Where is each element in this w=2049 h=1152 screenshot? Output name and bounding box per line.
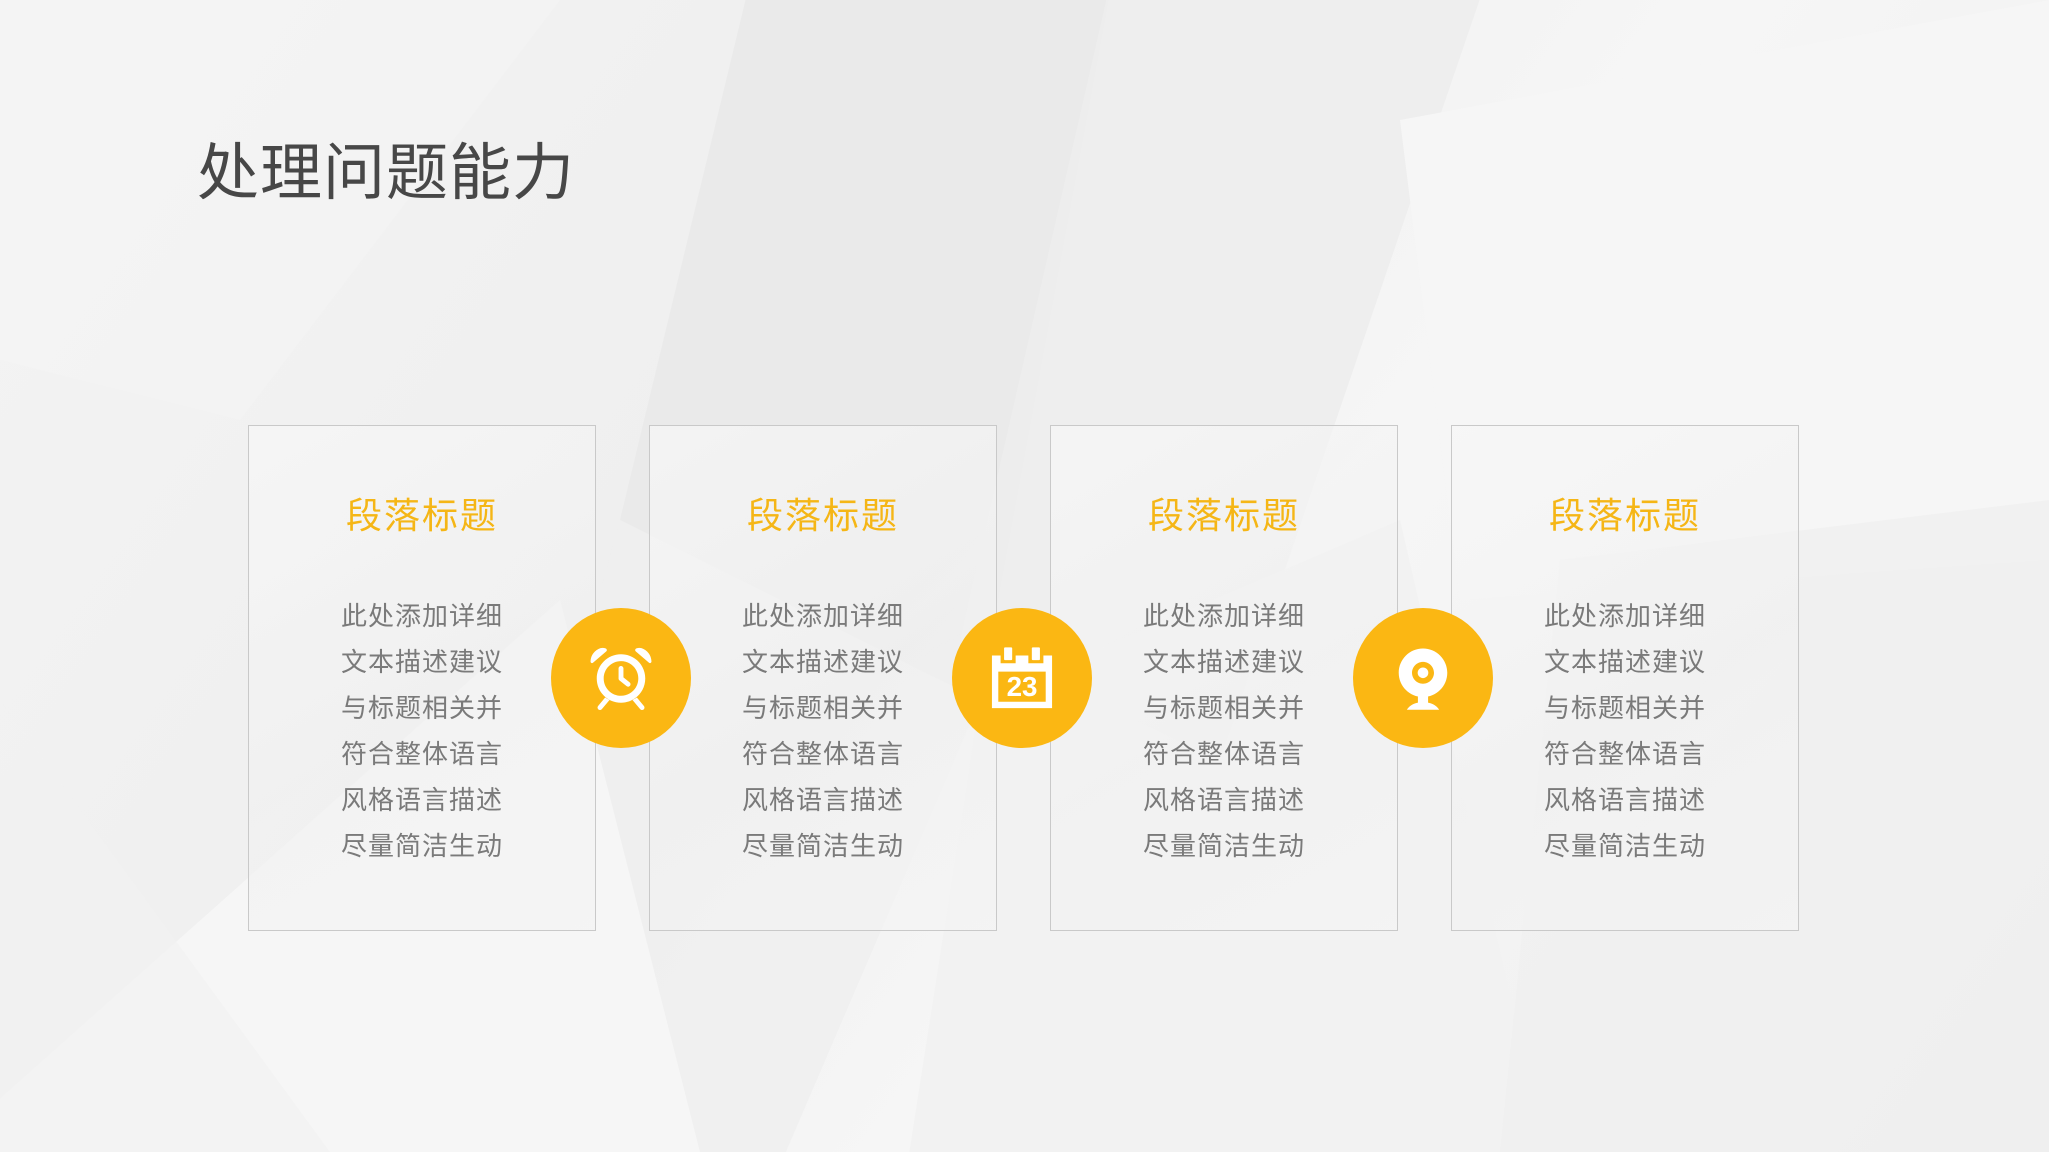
card-4-heading: 段落标题 — [1452, 494, 1798, 537]
card-2-heading: 段落标题 — [650, 494, 996, 537]
card-1-body-line-1: 此处添加详细 — [249, 593, 595, 639]
card-2-body-line-4: 符合整体语言 — [650, 731, 996, 777]
card-1-heading: 段落标题 — [249, 494, 595, 537]
card-4-body-line-2: 文本描述建议 — [1452, 639, 1798, 685]
card-2-body-line-1: 此处添加详细 — [650, 593, 996, 639]
card-1-body-line-4: 符合整体语言 — [249, 731, 595, 777]
card-4-body-line-6: 尽量简洁生动 — [1452, 823, 1798, 869]
card-4-content: 段落标题 此处添加详细 文本描述建议 与标题相关并 符合整体语言 风格语言描述 … — [1452, 426, 1798, 869]
card-3-content: 段落标题 此处添加详细 文本描述建议 与标题相关并 符合整体语言 风格语言描述 … — [1051, 426, 1397, 869]
card-1-body-line-2: 文本描述建议 — [249, 639, 595, 685]
badge-webcam[interactable] — [1353, 608, 1493, 748]
card-2[interactable]: 段落标题 此处添加详细 文本描述建议 与标题相关并 符合整体语言 风格语言描述 … — [649, 425, 997, 931]
card-1[interactable]: 段落标题 此处添加详细 文本描述建议 与标题相关并 符合整体语言 风格语言描述 … — [248, 425, 596, 931]
card-2-body: 此处添加详细 文本描述建议 与标题相关并 符合整体语言 风格语言描述 尽量简洁生… — [650, 593, 996, 869]
calendar-icon: 23 — [985, 641, 1059, 715]
card-2-body-line-3: 与标题相关并 — [650, 685, 996, 731]
card-3-body-line-1: 此处添加详细 — [1051, 593, 1397, 639]
slide: 处理问题能力 段落标题 此处添加详细 文本描述建议 与标题相关并 符合整体语言 … — [0, 0, 2049, 1152]
card-4-body-line-3: 与标题相关并 — [1452, 685, 1798, 731]
card-2-body-line-6: 尽量简洁生动 — [650, 823, 996, 869]
card-3-body-line-3: 与标题相关并 — [1051, 685, 1397, 731]
calendar-day-number: 23 — [1007, 671, 1038, 702]
card-4[interactable]: 段落标题 此处添加详细 文本描述建议 与标题相关并 符合整体语言 风格语言描述 … — [1451, 425, 1799, 931]
card-1-content: 段落标题 此处添加详细 文本描述建议 与标题相关并 符合整体语言 风格语言描述 … — [249, 426, 595, 869]
card-4-body: 此处添加详细 文本描述建议 与标题相关并 符合整体语言 风格语言描述 尽量简洁生… — [1452, 593, 1798, 869]
page-title: 处理问题能力 — [197, 138, 575, 209]
card-3[interactable]: 段落标题 此处添加详细 文本描述建议 与标题相关并 符合整体语言 风格语言描述 … — [1050, 425, 1398, 931]
card-2-body-line-2: 文本描述建议 — [650, 639, 996, 685]
badge-calendar[interactable]: 23 — [952, 608, 1092, 748]
card-1-body-line-5: 风格语言描述 — [249, 777, 595, 823]
card-3-body-line-4: 符合整体语言 — [1051, 731, 1397, 777]
card-1-body-line-6: 尽量简洁生动 — [249, 823, 595, 869]
card-2-content: 段落标题 此处添加详细 文本描述建议 与标题相关并 符合整体语言 风格语言描述 … — [650, 426, 996, 869]
card-4-body-line-1: 此处添加详细 — [1452, 593, 1798, 639]
card-4-body-line-4: 符合整体语言 — [1452, 731, 1798, 777]
card-1-body-line-3: 与标题相关并 — [249, 685, 595, 731]
webcam-icon — [1386, 641, 1460, 715]
card-4-body-line-5: 风格语言描述 — [1452, 777, 1798, 823]
card-3-body-line-2: 文本描述建议 — [1051, 639, 1397, 685]
card-3-body-line-6: 尽量简洁生动 — [1051, 823, 1397, 869]
card-1-body: 此处添加详细 文本描述建议 与标题相关并 符合整体语言 风格语言描述 尽量简洁生… — [249, 593, 595, 869]
card-3-body-line-5: 风格语言描述 — [1051, 777, 1397, 823]
card-3-body: 此处添加详细 文本描述建议 与标题相关并 符合整体语言 风格语言描述 尽量简洁生… — [1051, 593, 1397, 869]
card-2-body-line-5: 风格语言描述 — [650, 777, 996, 823]
badge-alarm-clock[interactable] — [551, 608, 691, 748]
card-3-heading: 段落标题 — [1051, 494, 1397, 537]
alarm-clock-icon — [582, 639, 660, 717]
